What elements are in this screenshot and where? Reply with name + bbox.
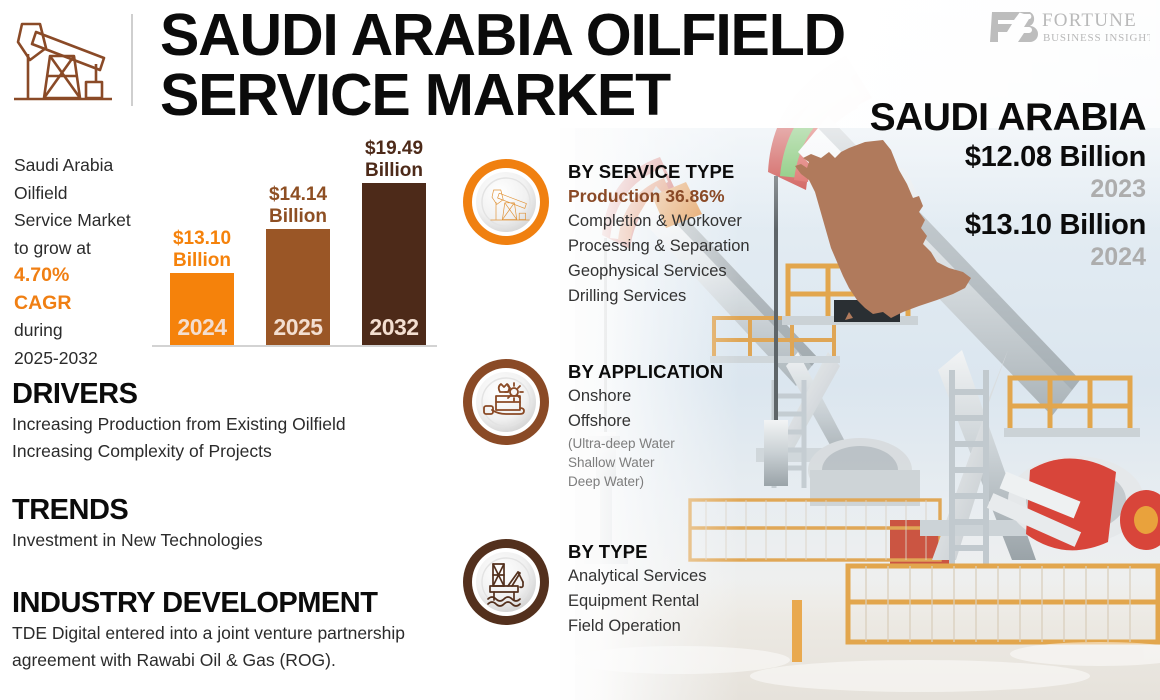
intro-line-1: Saudi Arabia Oilfield (14, 152, 154, 207)
bar-2032-value: $19.49 Billion (352, 138, 436, 181)
category-item[interactable]: Drilling Services (568, 284, 788, 309)
fortune-business-insights-logo: FORTUNE BUSINESS INSIGHTS (990, 6, 1150, 50)
figure-2023-year: 2023 (726, 174, 1146, 204)
category-by-type-text: BY TYPE Analytical Services Equipment Re… (568, 540, 788, 639)
category-title: BY APPLICATION (568, 360, 788, 384)
pumpjack-icon (8, 14, 120, 106)
bar-2025-value-amount: $14.14 (256, 184, 340, 206)
drivers-heading: DRIVERS (12, 377, 346, 411)
figure-2024: $13.10 Billion 2024 (726, 208, 1146, 272)
bar-2032-value-amount: $19.49 (352, 138, 436, 160)
bar-2032-year: 2032 (362, 314, 426, 341)
cagr-value: 4.70% (14, 262, 154, 290)
figure-2024-year: 2024 (726, 242, 1146, 272)
industry-development-line-2: agreement with Rawabi Oil & Gas (ROG). (12, 647, 405, 674)
trends-item-0: Investment in New Technologies (12, 527, 263, 554)
figure-2023-amount: $12.08 Billion (726, 140, 1146, 174)
infographic-page: SAUDI ARABIA OILFIELD SERVICE MARKET FOR… (0, 0, 1160, 700)
category-item[interactable]: Analytical Services (568, 564, 788, 589)
industry-development-heading: INDUSTRY DEVELOPMENT (12, 586, 405, 620)
bar-2024: $13.10 Billion 2024 (170, 273, 234, 345)
bar-2025: $14.14 Billion 2025 (266, 229, 330, 345)
bar-2024-value: $13.10 Billion (160, 228, 244, 271)
pumpjack-icon (462, 158, 550, 246)
trends-block: TRENDS Investment in New Technologies (12, 493, 263, 554)
hand-toolbox-icon (462, 358, 550, 446)
category-item[interactable]: Field Operation (568, 614, 788, 639)
category-sub-item: (Ultra-deep Water (568, 434, 788, 453)
intro-period: 2025-2032 (14, 345, 154, 373)
category-by-application-text: BY APPLICATION Onshore Offshore (Ultra-d… (568, 360, 788, 491)
intro-text: Saudi Arabia Oilfield Service Market to … (14, 152, 154, 372)
bar-2032: $19.49 Billion 2032 (362, 183, 426, 345)
svg-text:FORTUNE: FORTUNE (1042, 10, 1137, 31)
figure-2023: $12.08 Billion 2023 (726, 140, 1146, 204)
chart-baseline (152, 345, 437, 347)
country-name: SAUDI ARABIA (726, 96, 1146, 140)
category-item[interactable]: Equipment Rental (568, 589, 788, 614)
bar-2025-value: $14.14 Billion (256, 184, 340, 227)
page-title-line1: SAUDI ARABIA OILFIELD (160, 5, 920, 65)
cagr-label: CAGR (14, 290, 154, 318)
bar-2024-value-unit: Billion (160, 250, 244, 272)
bar-2025-year: 2025 (266, 314, 330, 341)
trends-heading: TRENDS (12, 493, 263, 527)
offshore-rig-icon (462, 538, 550, 626)
bar-2025-value-unit: Billion (256, 206, 340, 228)
category-title: BY TYPE (568, 540, 788, 564)
industry-development-block: INDUSTRY DEVELOPMENT TDE Digital entered… (12, 586, 405, 674)
market-size-bar-chart: $13.10 Billion 2024 $14.14 Billion 2025 … (152, 142, 437, 347)
header-divider (131, 14, 133, 106)
drivers-item-0: Increasing Production from Existing Oilf… (12, 411, 346, 438)
category-sub-item: Deep Water) (568, 472, 788, 491)
drivers-block: DRIVERS Increasing Production from Exist… (12, 377, 346, 465)
figure-2024-amount: $13.10 Billion (726, 208, 1146, 242)
bar-2024-year: 2024 (170, 314, 234, 341)
category-item[interactable]: Offshore (568, 409, 788, 434)
intro-line-2: Service Market (14, 207, 154, 235)
bar-2032-value-unit: Billion (352, 160, 436, 182)
intro-line-4: during (14, 317, 154, 345)
category-item[interactable]: Onshore (568, 384, 788, 409)
category-sub-item: Shallow Water (568, 453, 788, 472)
bar-2024-value-amount: $13.10 (160, 228, 244, 250)
drivers-item-1: Increasing Complexity of Projects (12, 438, 346, 465)
intro-line-3: to grow at (14, 235, 154, 263)
svg-text:BUSINESS INSIGHTS: BUSINESS INSIGHTS (1043, 32, 1150, 44)
industry-development-line-1: TDE Digital entered into a joint venture… (12, 620, 405, 647)
